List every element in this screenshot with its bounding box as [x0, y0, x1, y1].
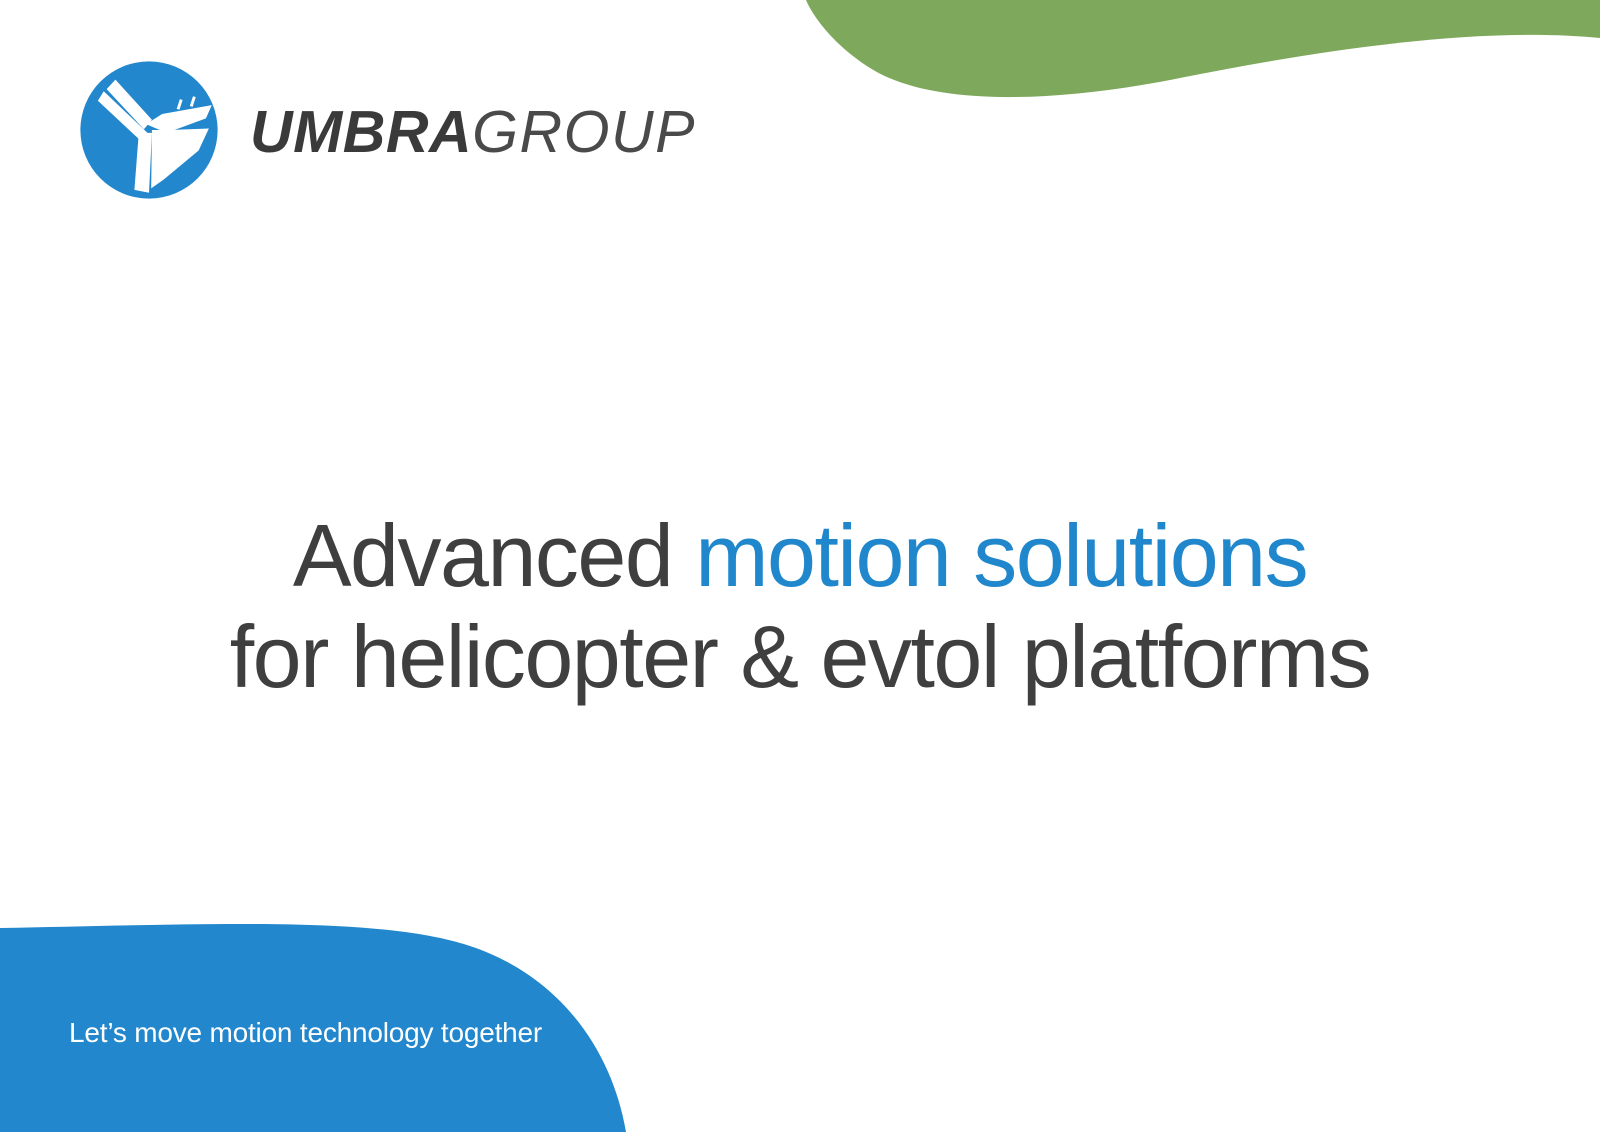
headline-line-1: Advanced motion solutions	[60, 505, 1540, 606]
brand-logo-lockup: UMBRA GROUP	[76, 57, 696, 203]
headline-line-2: for helicopter & evtol platforms	[60, 606, 1540, 707]
top-right-green-blob	[806, 0, 1600, 97]
umbragroup-logo-icon	[76, 57, 222, 203]
brand-wordmark: UMBRA GROUP	[250, 103, 696, 162]
headline-part-dark: Advanced	[293, 506, 695, 605]
slide-tagline: Let’s move motion technology together	[69, 1016, 542, 1050]
title-slide: UMBRA GROUP Advanced motion solutions fo…	[0, 0, 1600, 1132]
wordmark-umbra: UMBRA	[250, 103, 472, 162]
headline-part-accent: motion solutions	[695, 506, 1307, 605]
slide-headline: Advanced motion solutions for helicopter…	[0, 505, 1600, 707]
wordmark-group: GROUP	[472, 103, 696, 162]
